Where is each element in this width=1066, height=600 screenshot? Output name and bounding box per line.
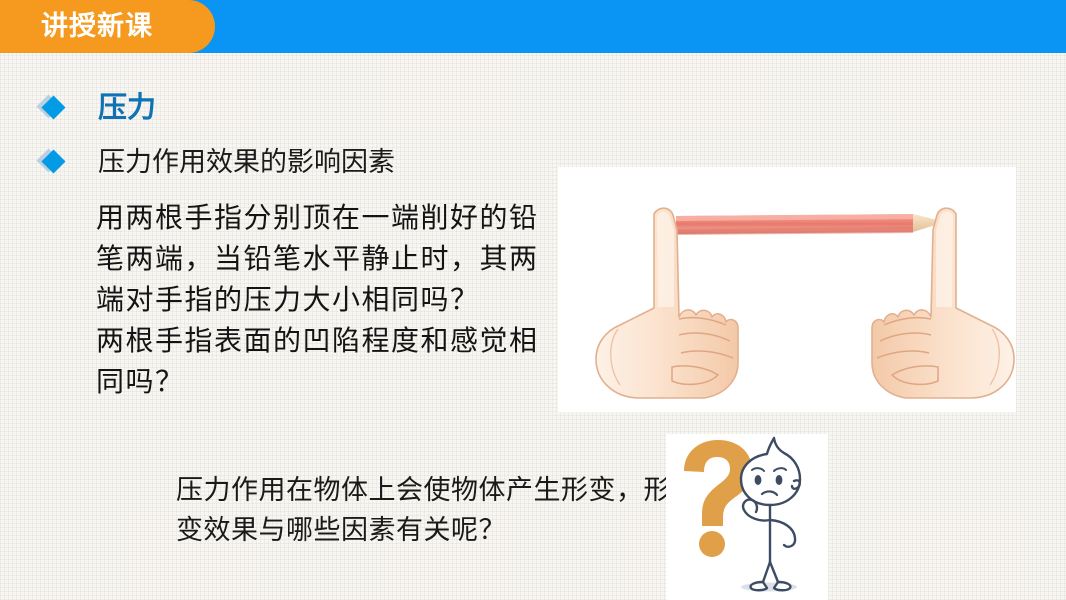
slide-canvas: 讲授新课 压力 压力作用效果的影响因素 用两根手指分别顶在一端削好的铅笔两端，当… bbox=[0, 0, 1066, 600]
heading-row-secondary: 压力作用效果的影响因素 bbox=[38, 147, 395, 177]
hands-pencil-illustration bbox=[558, 167, 1016, 412]
subsection-title: 压力作用效果的影响因素 bbox=[98, 149, 395, 176]
page-title: 压力 bbox=[98, 94, 156, 123]
header-band: 讲授新课 bbox=[0, 0, 1066, 53]
photo-two-fingers-holding-pencil bbox=[558, 167, 1016, 412]
section-tag-pill: 讲授新课 bbox=[0, 0, 215, 53]
diamond-bullet-icon bbox=[38, 147, 68, 177]
thinking-figure-illustration bbox=[666, 434, 828, 600]
section-tag-label: 讲授新课 bbox=[41, 13, 153, 40]
bottom-question-text: 压力作用在物体上会使物体产生形变，形变效果与哪些因素有关呢？ bbox=[176, 470, 676, 550]
diamond-bullet-icon bbox=[38, 93, 68, 123]
heading-row-primary: 压力 bbox=[38, 93, 156, 123]
illustration-thinking-figure bbox=[666, 434, 828, 600]
pencil-icon bbox=[676, 214, 950, 235]
body-paragraph: 用两根手指分别顶在一端削好的铅笔两端，当铅笔水平静止时，其两端对手指的压力大小相… bbox=[96, 198, 566, 403]
